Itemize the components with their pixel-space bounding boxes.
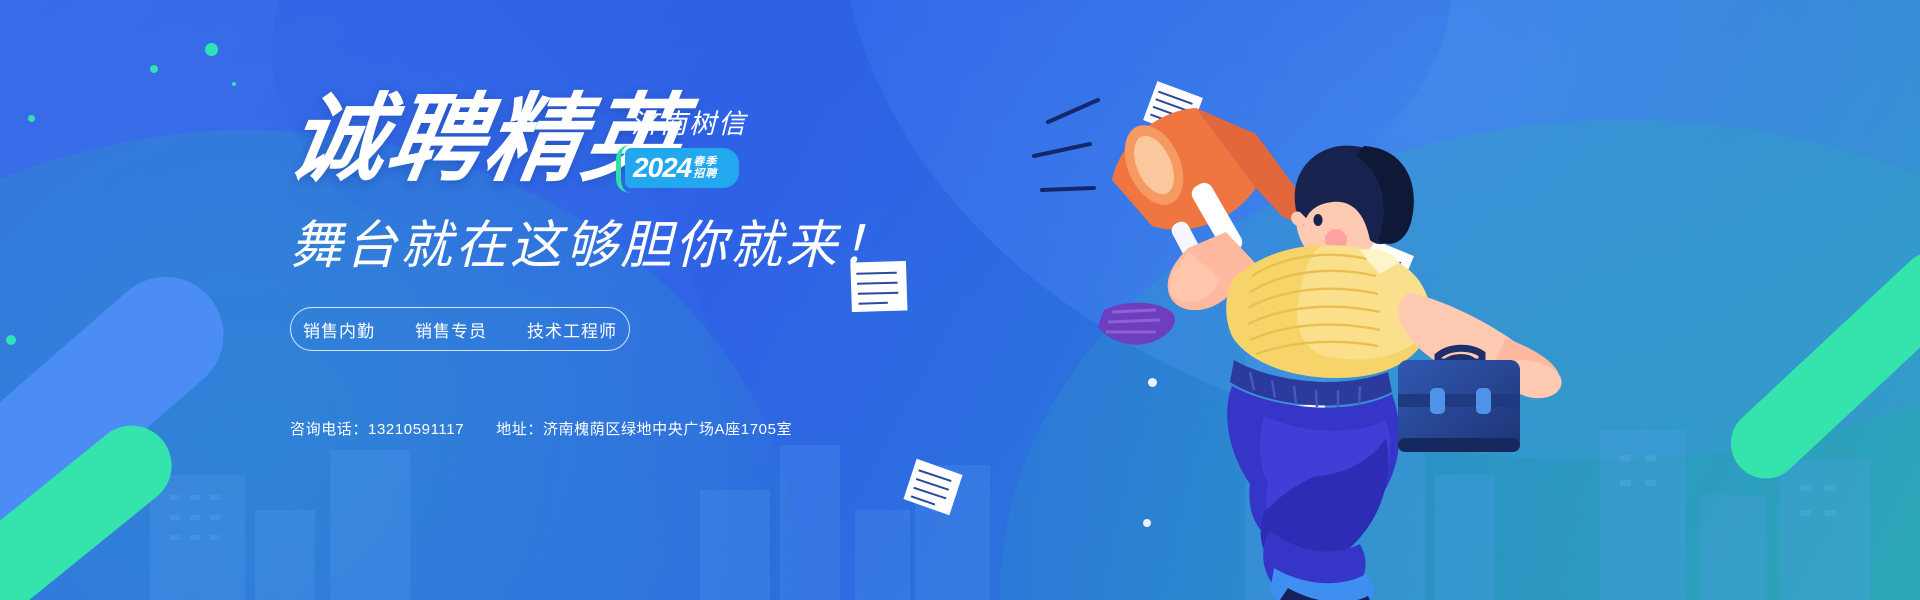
badge-season-line1: 春季: [693, 156, 717, 168]
year-badge: 2024 春季 招聘: [625, 148, 739, 188]
headline-row: 诚聘精英 济南树信 2024 春季 招聘: [290, 96, 990, 202]
sound-lines-icon: [1034, 100, 1098, 190]
company-name: 济南树信: [631, 102, 765, 141]
recruitment-banner: 诚聘精英 济南树信 2024 春季 招聘 舞台就在这够胆你就来！ 销售内勤 销售…: [0, 0, 1920, 600]
businessman-illustration: [1020, 60, 1580, 600]
position-item-0[interactable]: 销售内勤: [283, 317, 395, 342]
decor-dot: [205, 43, 218, 56]
position-item-1[interactable]: 销售专员: [395, 317, 507, 342]
badge-season-text: 春季 招聘: [693, 156, 717, 181]
badge-season-line2: 招聘: [693, 168, 717, 180]
decor-dot: [232, 82, 236, 86]
decor-dot: [28, 115, 35, 122]
positions-pill: 销售内勤 销售专员 技术工程师: [290, 307, 630, 351]
decor-dot: [150, 65, 158, 73]
contact-address: 地址：济南槐荫区绿地中央广场A座1705室: [496, 418, 792, 439]
recruitment-badge: 济南树信 2024 春季 招聘: [625, 102, 765, 188]
briefcase-icon: [1398, 348, 1520, 452]
page-subtitle: 舞台就在这够胆你就来！: [290, 218, 990, 275]
eye: [1313, 214, 1322, 226]
back-foot: [1098, 303, 1175, 345]
badge-accent-stroke: [616, 145, 632, 193]
banner-content: 诚聘精英 济南树信 2024 春季 招聘 舞台就在这够胆你就来！ 销售内勤 销售…: [290, 96, 990, 351]
badge-year-text: 2024: [633, 154, 691, 182]
position-item-2[interactable]: 技术工程师: [507, 317, 637, 342]
contact-phone: 咨询电话：13210591117: [290, 418, 464, 439]
pants: [1227, 386, 1399, 600]
decor-dot: [6, 335, 16, 345]
contact-info: 咨询电话：13210591117 地址：济南槐荫区绿地中央广场A座1705室: [290, 418, 792, 439]
